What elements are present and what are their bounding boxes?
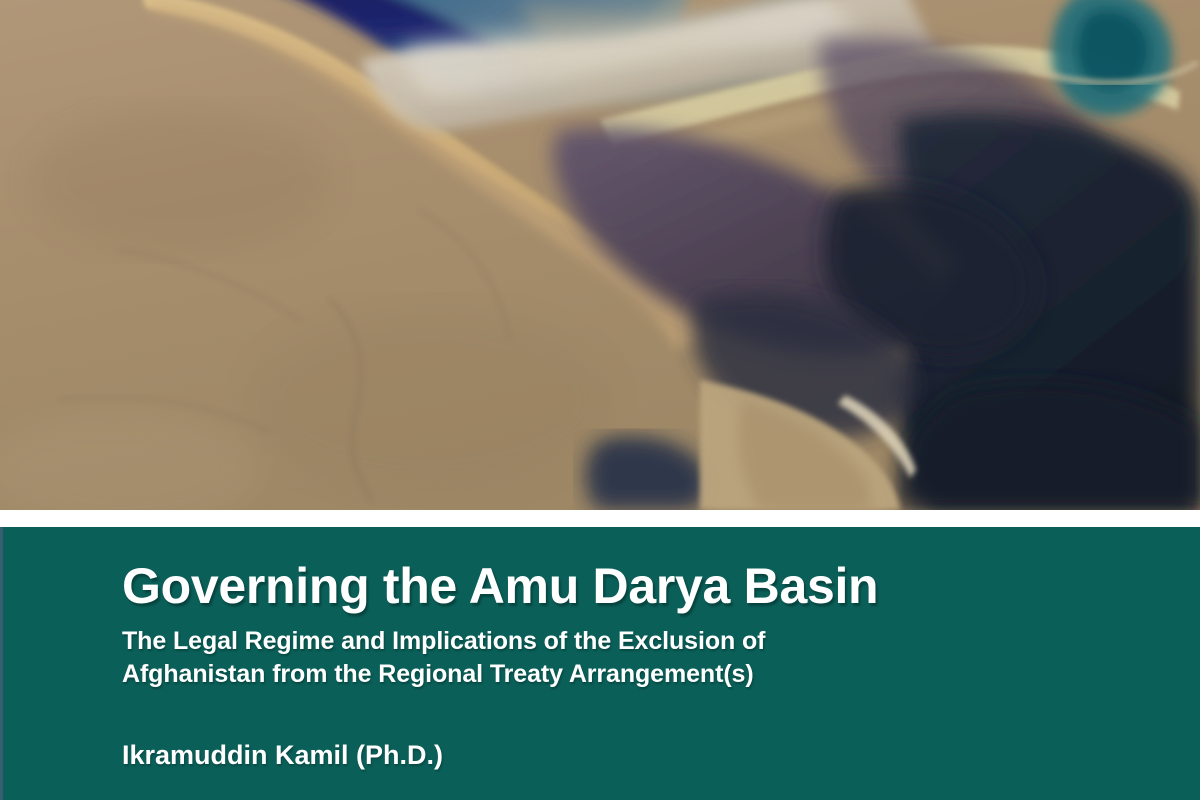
satellite-photo-artwork: [0, 0, 1200, 510]
title-banner: Governing the Amu Darya Basin The Legal …: [0, 527, 1200, 800]
satellite-photo-amu-darya-delta: [0, 0, 1200, 510]
title-banner-content: Governing the Amu Darya Basin The Legal …: [122, 527, 1200, 800]
page-subtitle-line-2: Afghanistan from the Regional Treaty Arr…: [122, 658, 765, 691]
author-name: Ikramuddin Kamil (Ph.D.): [122, 741, 443, 771]
page-subtitle: The Legal Regime and Implications of the…: [122, 625, 765, 691]
report-cover-page: Governing the Amu Darya Basin The Legal …: [0, 0, 1200, 800]
banner-left-edge-accent: [0, 527, 3, 800]
page-subtitle-line-1: The Legal Regime and Implications of the…: [122, 625, 765, 658]
white-separator-strip: [0, 510, 1200, 527]
page-title: Governing the Amu Darya Basin: [122, 560, 878, 612]
